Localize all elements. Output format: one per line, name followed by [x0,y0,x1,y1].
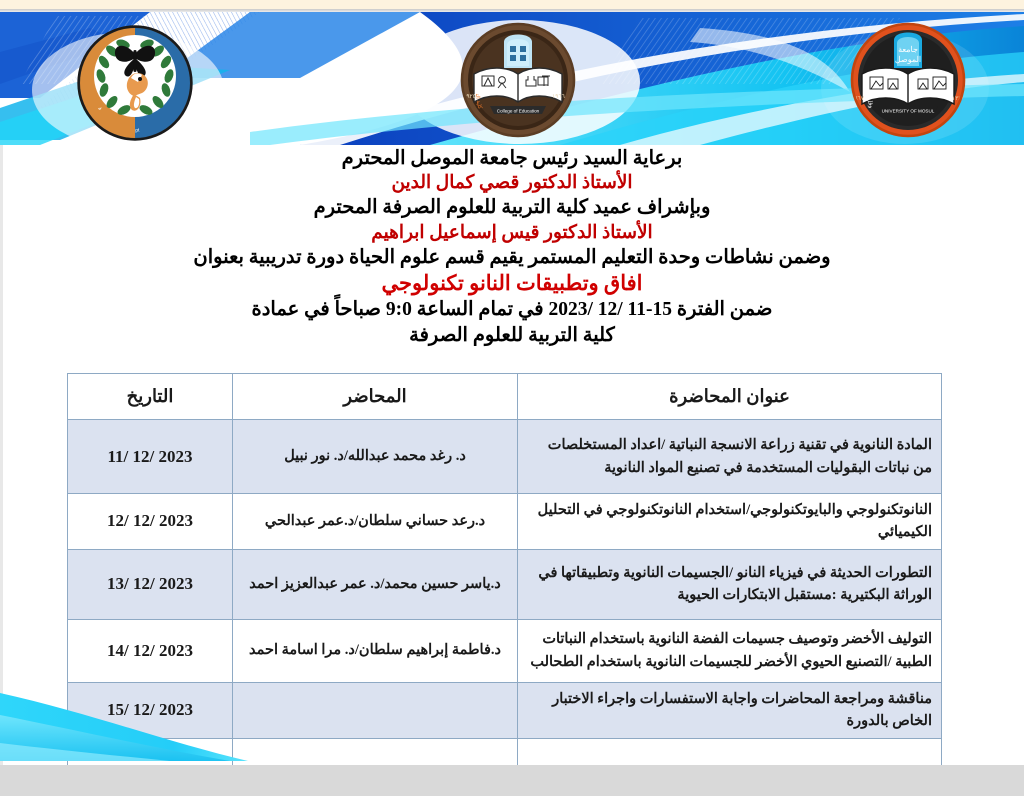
column-header-topic: عنوان المحاضرة [518,374,942,420]
svg-text:الموصل: الموصل [895,55,921,64]
cell-speaker: د.ياسر حسين محمد/د. عمر عبدالعزيز احمد [233,549,518,619]
department-life-sciences-emblem-icon: قسم علوم الحياة Biology Dept. [76,24,194,142]
page-bottom-margin [0,765,1024,796]
top-cream-strip [0,0,1024,9]
cell-topic: التوليف الأخضر وتوصيف جسيمات الفضة النان… [518,619,942,682]
table-row: التوليف الأخضر وتوصيف جسيمات الفضة النان… [68,619,942,682]
poster-page: قسم علوم الحياة Biology Dept. [0,0,1024,796]
table-row: التطورات الحديثة في فيزياء النانو /الجسي… [68,549,942,619]
column-header-date: التاريخ [68,374,233,420]
table-header-row: عنوان المحاضرة المحاضر التاريخ [68,374,942,420]
svg-text:College of Education: College of Education [497,109,540,114]
table-row: النانوتكنولوجي والبايوتكنولوجي/استخدام ا… [68,494,942,550]
cell-date: 2023 /12 /12 [68,494,233,550]
cell-topic: مناقشة ومراجعة المحاضرات واجابة الاستفسا… [518,682,942,738]
cell-speaker [233,682,518,738]
cell-topic: التطورات الحديثة في فيزياء النانو /الجسي… [518,549,942,619]
patronage-line: برعاية السيد رئيس جامعة الموصل المحترم [0,146,1024,171]
cell-speaker: د.فاطمة إبراهيم سلطان/د. مرا اسامة احمد [233,619,518,682]
supervision-line: وبإشراف عميد كلية التربية للعلوم الصرفة … [0,195,1024,220]
venue-line: كلية التربية للعلوم الصرفة [0,323,1024,348]
svg-text:جامعة: جامعة [898,45,918,54]
college-education-pure-sciences-emblem-icon: ١٩٢٥ ١٩٦٦ College of Education كلية التر… [460,22,576,138]
cell-topic: المادة النانوية في تقنية زراعة الانسجة ا… [518,420,942,494]
date-time-line: ضمن الفترة 15-11 /12 /2023 في تمام الساع… [0,297,1024,322]
svg-text:١٩٦٦: ١٩٦٦ [552,94,565,100]
cell-topic: النانوتكنولوجي والبايوتكنولوجي/استخدام ا… [518,494,942,550]
cell-date: 2023 /12 /13 [68,549,233,619]
cell-date: 2023 /12 /11 [68,420,233,494]
column-header-speaker: المحاضر [233,374,518,420]
college-dean: الأستاذ الدكتور قيس إسماعيل ابراهيم [0,221,1024,245]
table-row: المادة النانوية في تقنية زراعة الانسجة ا… [68,420,942,494]
cell-date: 2023 /12 /14 [68,619,233,682]
cell-date: 2023 /12 /15 [68,682,233,738]
announcement-header: برعاية السيد رئيس جامعة الموصل المحترم ا… [0,146,1024,348]
schedule-table: عنوان المحاضرة المحاضر التاريخ المادة ال… [67,373,942,776]
svg-text:١٩٦٧: ١٩٦٧ [851,96,865,102]
table-row: مناقشة ومراجعة المحاضرات واجابة الاستفسا… [68,682,942,738]
cell-speaker: د.رعد حساني سلطان/د.عمر عبدالحي [233,494,518,550]
course-title: افاق وتطبيقات النانو تكنولوجي [0,270,1024,297]
university-president: الأستاذ الدكتور قصي كمال الدين [0,171,1024,195]
university-of-mosul-emblem-icon: جامعة الموصل ١٩٦٧ ١٣٨٧ UNIVERSITY OF MOS… [850,22,966,138]
schedule-table-container: عنوان المحاضرة المحاضر التاريخ المادة ال… [68,373,942,776]
organizer-line: وضمن نشاطات وحدة التعليم المستمر يقيم قس… [0,245,1024,270]
cell-speaker: د. رغد محمد عبدالله/د. نور نبيل [233,420,518,494]
svg-text:UNIVERSITY OF MOSUL: UNIVERSITY OF MOSUL [882,109,935,114]
